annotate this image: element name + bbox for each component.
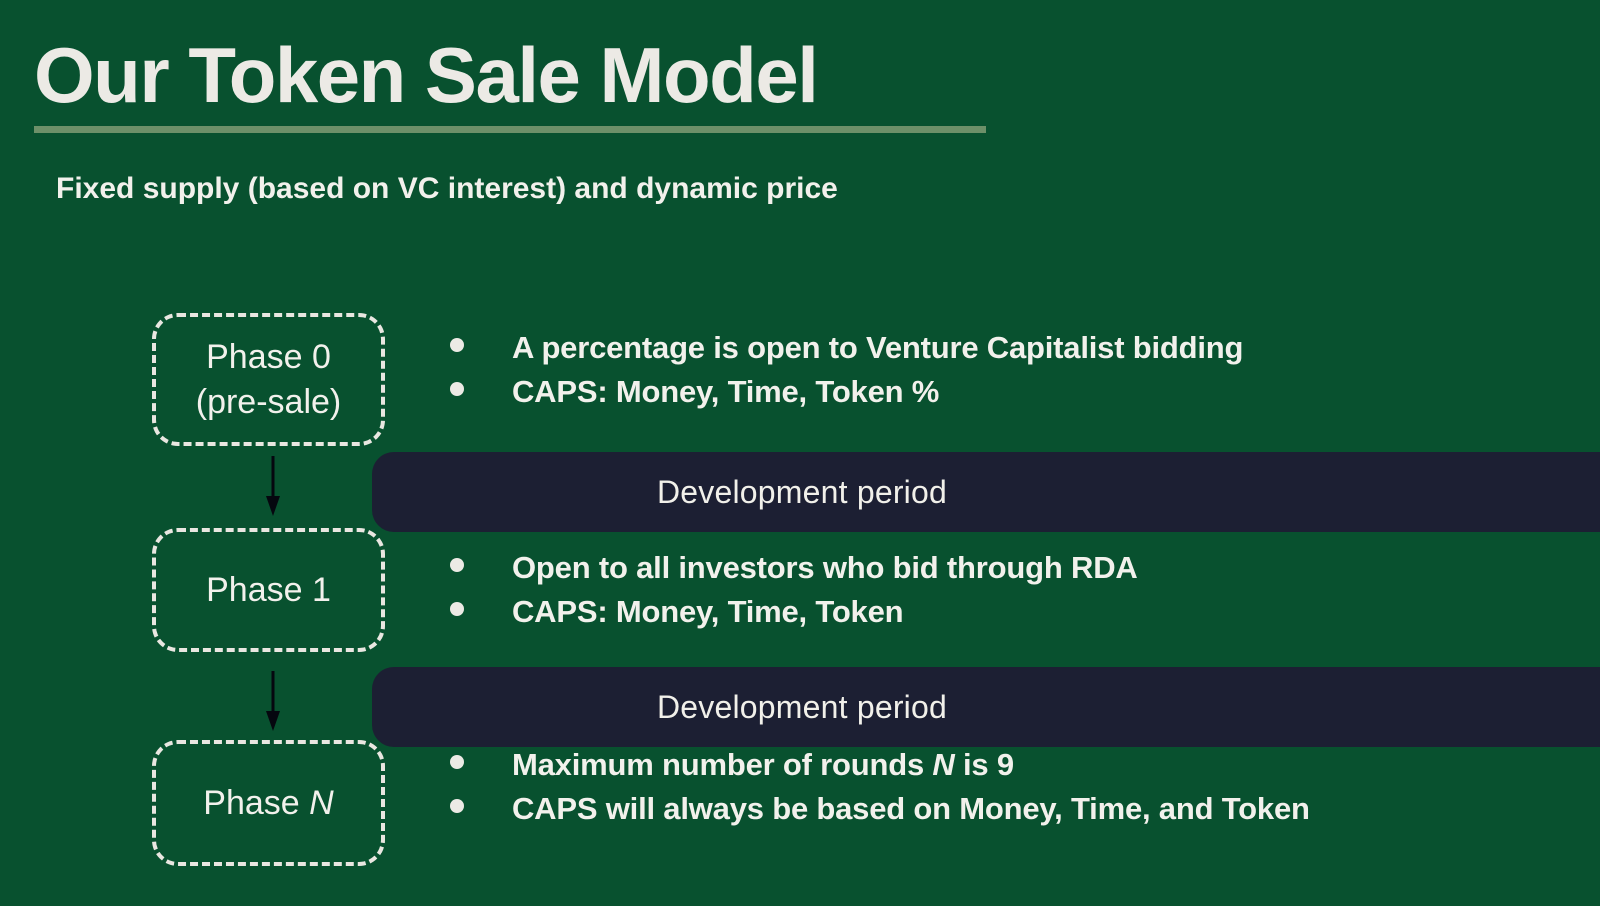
- bullet-dot-icon: [450, 799, 464, 813]
- bullet-text: CAPS will always be based on Money, Time…: [512, 791, 1310, 827]
- bullet-text: CAPS: Money, Time, Token: [512, 594, 903, 630]
- list-item: CAPS: Money, Time, Token %: [450, 374, 1243, 418]
- bullet-text: A percentage is open to Venture Capitali…: [512, 330, 1243, 366]
- bullet-text-before: Maximum number of rounds: [512, 747, 932, 782]
- list-item: CAPS: Money, Time, Token: [450, 594, 1138, 638]
- title-underline-rule: [34, 126, 986, 133]
- development-period-label: Development period: [657, 474, 947, 511]
- bullet-text: CAPS: Money, Time, Token %: [512, 374, 939, 410]
- development-period-label: Development period: [657, 689, 947, 726]
- bullet-text: Open to all investors who bid through RD…: [512, 550, 1138, 586]
- development-period-bar-2: Development period: [372, 667, 1600, 747]
- bullet-text-variable: N: [932, 747, 954, 782]
- phase-box-phase-1: Phase 1: [152, 528, 385, 652]
- list-item: Maximum number of rounds N is 9: [450, 747, 1310, 791]
- page-subtitle: Fixed supply (based on VC interest) and …: [56, 172, 838, 206]
- phase-box-phase-0: Phase 0 (pre-sale): [152, 313, 385, 446]
- bullet-text-after: is 9: [955, 747, 1014, 782]
- phase-label-line-1: Phase 1: [206, 568, 331, 613]
- phase-label-prefix: Phase: [203, 784, 309, 822]
- bullet-list-phase-0: A percentage is open to Venture Capitali…: [450, 330, 1243, 418]
- bullet-dot-icon: [450, 382, 464, 396]
- arrow-down-phase0-to-phase1: [264, 456, 282, 516]
- phase-label-line-2: (pre-sale): [196, 380, 341, 425]
- phase-box-phase-n: Phase N: [152, 740, 385, 866]
- phase-label-variable: N: [309, 784, 334, 822]
- bullet-dot-icon: [450, 338, 464, 352]
- bullet-text: Maximum number of rounds N is 9: [512, 747, 1014, 783]
- bullet-dot-icon: [450, 755, 464, 769]
- development-period-bar-1: Development period: [372, 452, 1600, 532]
- list-item: A percentage is open to Venture Capitali…: [450, 330, 1243, 374]
- phase-label-line-1: Phase 0: [206, 335, 331, 380]
- phase-label-line-1: Phase N: [203, 781, 333, 826]
- bullet-dot-icon: [450, 602, 464, 616]
- bullet-list-phase-n: Maximum number of rounds N is 9 CAPS wil…: [450, 747, 1310, 835]
- bullet-list-phase-1: Open to all investors who bid through RD…: [450, 550, 1138, 638]
- list-item: CAPS will always be based on Money, Time…: [450, 791, 1310, 835]
- list-item: Open to all investors who bid through RD…: [450, 550, 1138, 594]
- arrow-down-phase1-to-phasen: [264, 671, 282, 731]
- page-title: Our Token Sale Model: [34, 36, 817, 114]
- bullet-dot-icon: [450, 558, 464, 572]
- slide-canvas: Our Token Sale Model Fixed supply (based…: [0, 0, 1600, 906]
